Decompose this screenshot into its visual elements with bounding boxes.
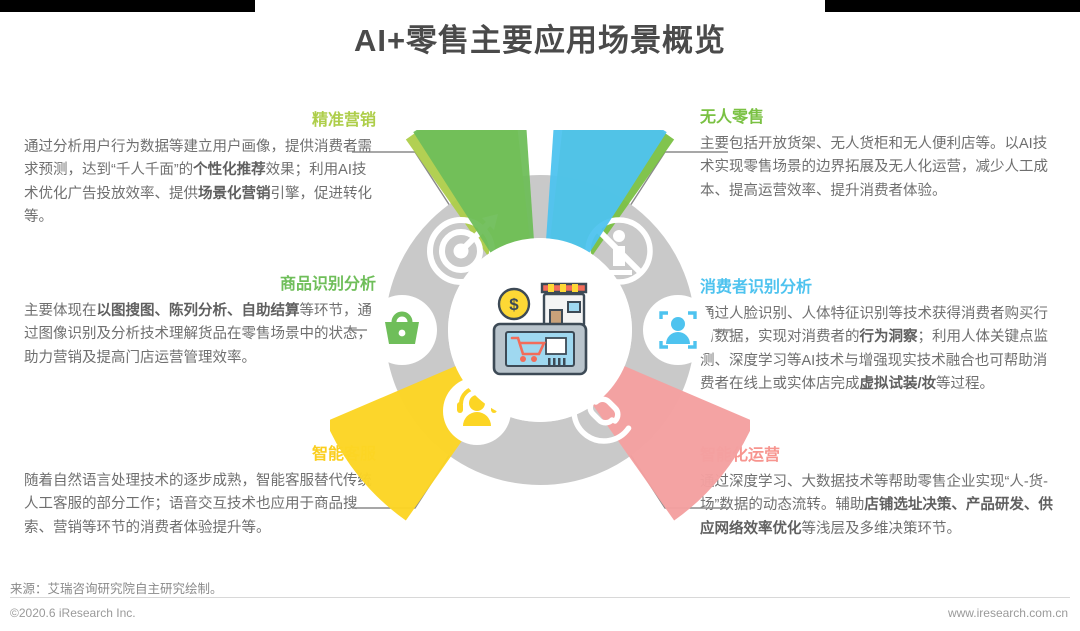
text-block-goods-recognition: 商品识别分析 主要体现在以图搜图、陈列分析、自助结算等环节，通过图像识别及分析技… bbox=[24, 272, 376, 370]
body-goods-recognition: 主要体现在以图搜图、陈列分析、自助结算等环节，通过图像识别及分析技术理解货品在零… bbox=[24, 300, 376, 370]
body-smart-operations: 通过深度学习、大数据技术等帮助零售企业实现“人-货-场”数据的动态流转。辅助店铺… bbox=[700, 471, 1060, 541]
body-unmanned-retail: 主要包括开放货架、无人货柜和无人便利店等。以AI技术实现零售场景的边界拓展及无人… bbox=[700, 133, 1060, 203]
footer-divider bbox=[10, 597, 1070, 598]
source-note: 来源：艾瑞咨询研究院自主研究绘制。 bbox=[10, 578, 223, 597]
text-block-precision-marketing: 精准营销 通过分析用户行为数据等建立用户画像，提供消费者需求预测，达到“千人千面… bbox=[24, 108, 376, 230]
copyright-text: ©2020.6 iResearch Inc. bbox=[10, 606, 136, 620]
page-title: AI+零售主要应用场景概览 bbox=[354, 15, 726, 60]
text-block-unmanned-retail: 无人零售 主要包括开放货架、无人货柜和无人便利店等。以AI技术实现零售场景的边界… bbox=[700, 105, 1060, 203]
body-smart-service: 随着自然语言处理技术的逐步成熟，智能客服替代传统人工客服的部分工作；语音交互技术… bbox=[24, 470, 376, 540]
text-block-consumer-recognition: 消费者识别分析 通过人脸识别、人体特征识别等技术获得消费者购买行为数据，实现对消… bbox=[700, 275, 1060, 397]
heading-smart-service: 智能客服 bbox=[24, 442, 376, 468]
heading-precision-marketing: 精准营销 bbox=[24, 108, 376, 134]
title-bar: AI+零售主要应用场景概览 bbox=[0, 0, 1080, 68]
text-block-smart-operations: 智能化运营 通过深度学习、大数据技术等帮助零售企业实现“人-货-场”数据的动态流… bbox=[700, 443, 1060, 541]
heading-consumer-recognition: 消费者识别分析 bbox=[700, 275, 1060, 301]
text-block-smart-service: 智能客服 随着自然语言处理技术的逐步成熟，智能客服替代传统人工客服的部分工作；语… bbox=[24, 442, 376, 540]
heading-goods-recognition: 商品识别分析 bbox=[24, 272, 376, 298]
svg-text:$: $ bbox=[509, 295, 519, 314]
circular-diagram: $ bbox=[330, 130, 750, 530]
heading-unmanned-retail: 无人零售 bbox=[700, 105, 1060, 131]
body-consumer-recognition: 通过人脸识别、人体特征识别等技术获得消费者购买行为数据，实现对消费者的行为洞察；… bbox=[700, 303, 1060, 397]
heading-smart-operations: 智能化运营 bbox=[700, 443, 1060, 469]
website-url[interactable]: www.iresearch.com.cn bbox=[948, 606, 1068, 620]
body-precision-marketing: 通过分析用户行为数据等建立用户画像，提供消费者需求预测，达到“千人千面”的个性化… bbox=[24, 136, 376, 230]
